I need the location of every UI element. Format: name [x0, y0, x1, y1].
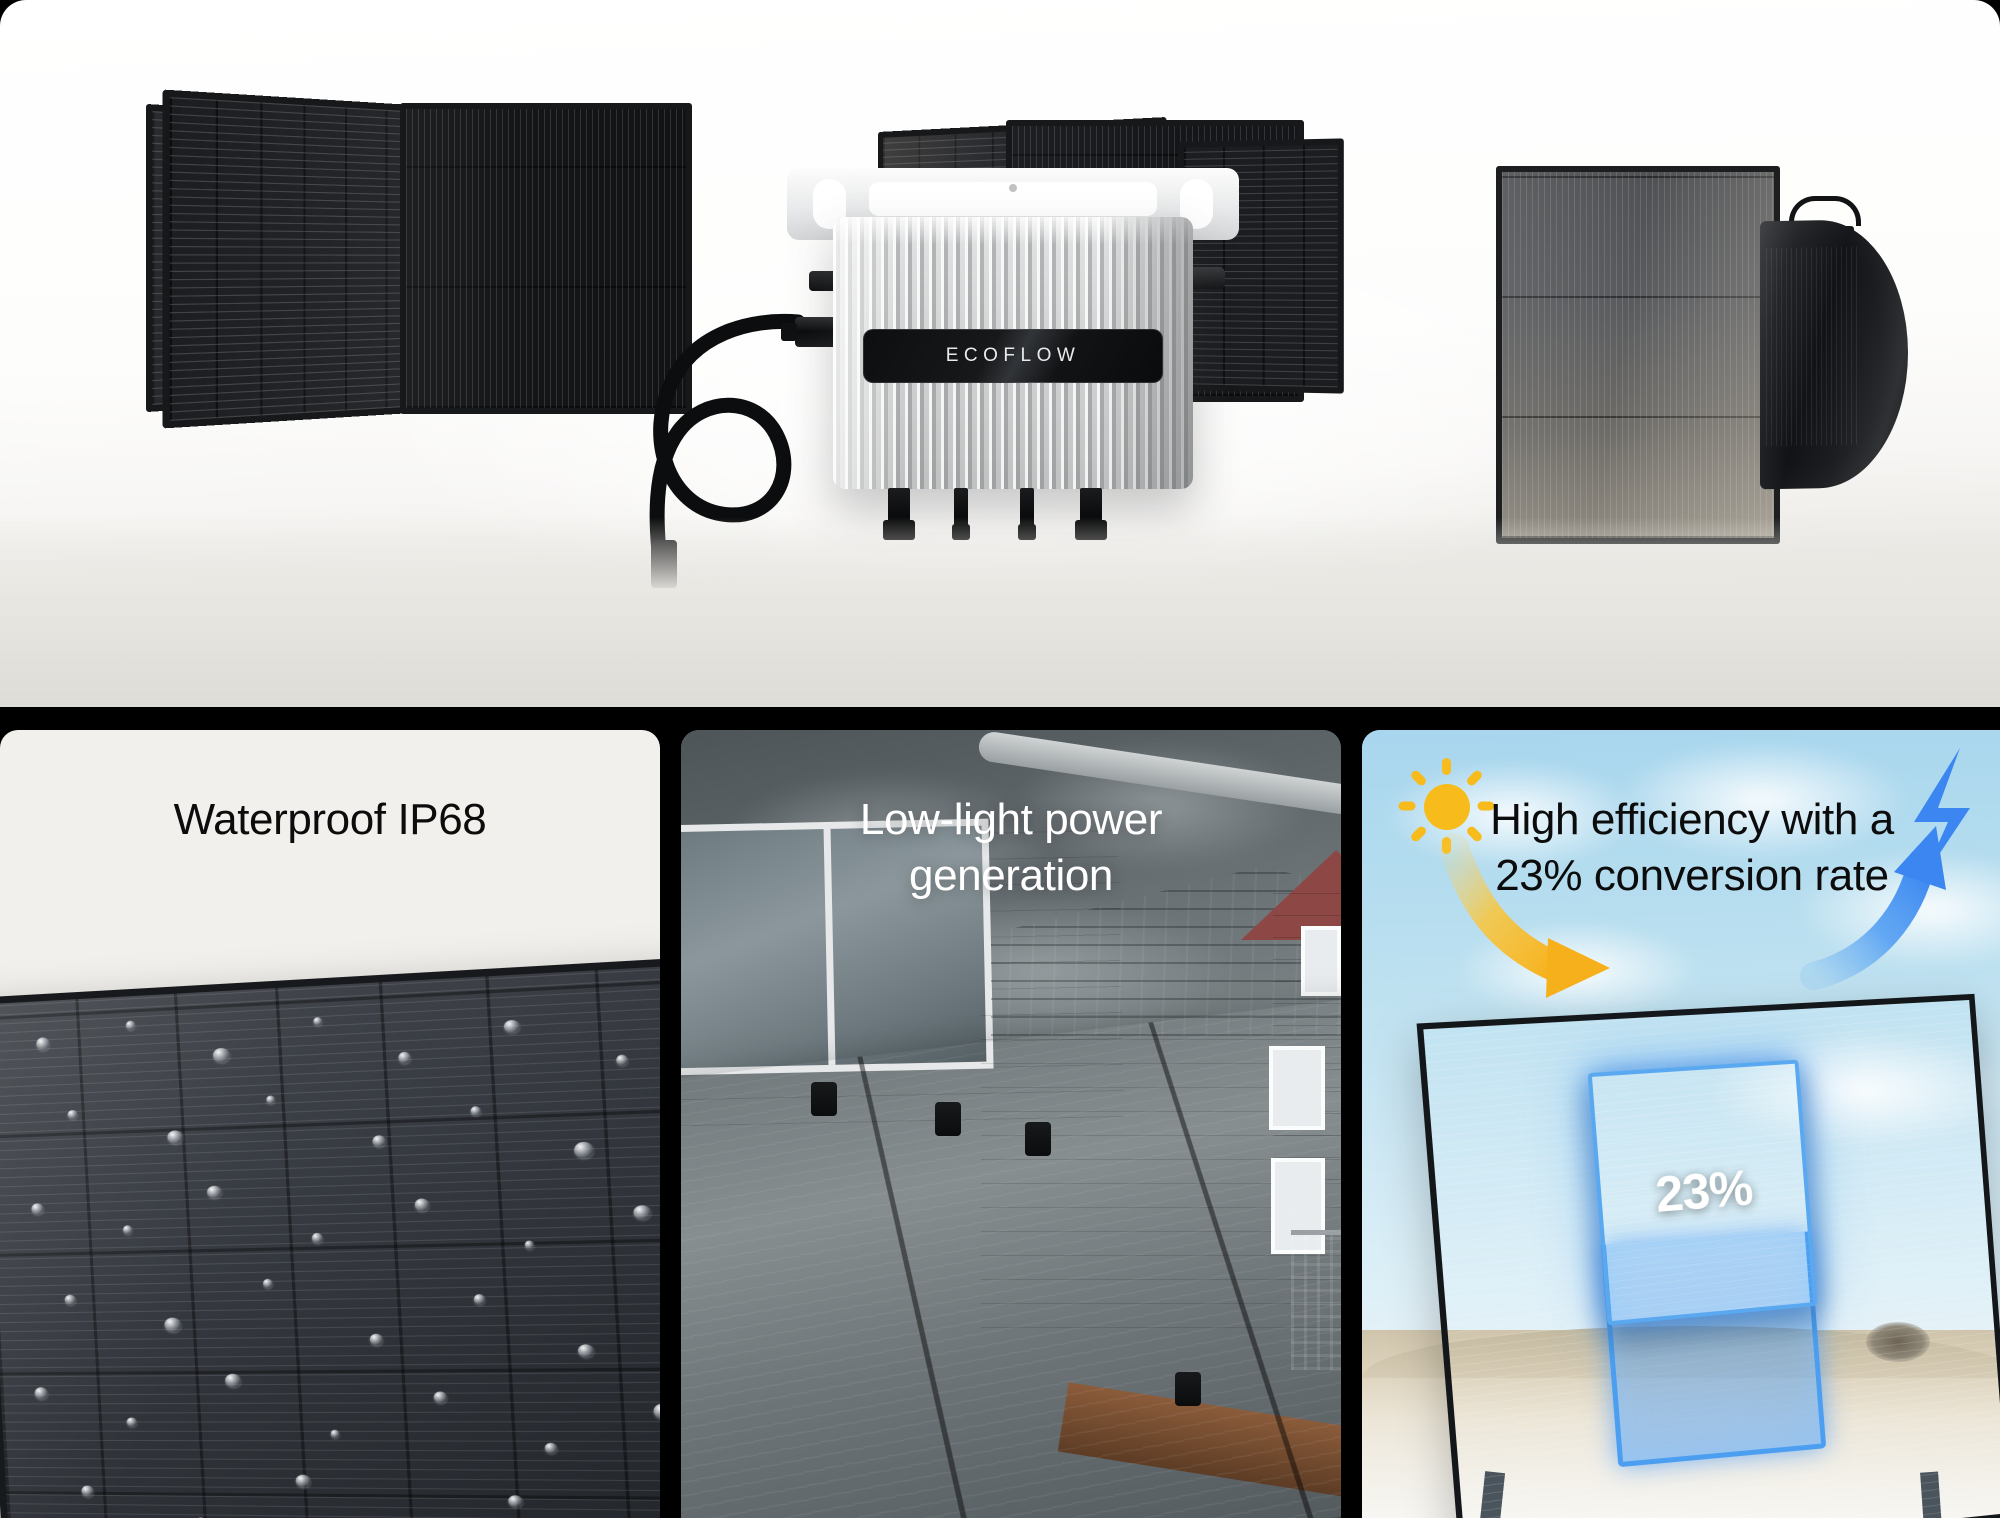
card-title-line-1: High efficiency with a [1490, 795, 1894, 844]
panel-mount-clip-3 [1025, 1122, 1051, 1156]
card-title-low-light: Low-light power generation [681, 730, 1341, 905]
card-title-line-2: 23% conversion rate [1495, 851, 1889, 900]
feature-cards: Waterproof IP68 Low-light power generati… [0, 730, 2000, 1518]
solar-panel-3 [400, 103, 692, 414]
ecoflow-logo: ECOFLOW [946, 345, 1081, 367]
hero-floor [0, 517, 2000, 707]
inverter-side-port-right [1191, 267, 1225, 289]
card-title-line-1: Low-light power [860, 795, 1162, 844]
feature-card-high-efficiency[interactable]: 23% High efficiency with a 23% conversio… [1362, 730, 2000, 1518]
panel-mount-clip-2 [935, 1102, 961, 1136]
waterproof-panel-image [0, 955, 660, 1518]
panel-mount-clip-1 [811, 1082, 837, 1116]
balcony-solar-panels [681, 997, 1341, 1518]
hero-product-image: ECOFLOW [0, 0, 2000, 707]
feature-card-waterproof[interactable]: Waterproof IP68 [0, 730, 660, 1518]
solar-panel-7 [1496, 166, 1780, 544]
flexible-solar-panel [1760, 219, 1908, 490]
brand-logo-plate: ECOFLOW [863, 329, 1163, 383]
card-title-line-2: generation [909, 851, 1113, 900]
panel-mount-clip-4 [1175, 1372, 1201, 1406]
conversion-rate-value: 23% [1653, 1158, 1754, 1223]
inverter-side-port-left [809, 271, 835, 291]
card-title-high-efficiency: High efficiency with a 23% conversion ra… [1362, 730, 2000, 905]
inverter-body: ECOFLOW [833, 217, 1193, 489]
red-house-window [1301, 926, 1341, 996]
microinverter: ECOFLOW [833, 217, 1193, 492]
feature-card-low-light[interactable]: Low-light power generation [681, 730, 1341, 1518]
efficiency-cell-badge: 23% [1588, 1060, 1818, 1326]
card-title-waterproof: Waterproof IP68 [0, 730, 660, 848]
